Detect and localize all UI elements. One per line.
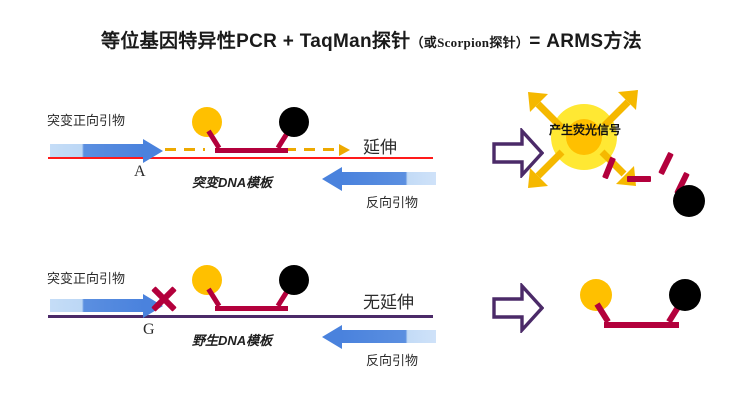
- intact-probe-linker-base: [604, 322, 679, 328]
- wildtype-template-label: 野生DNA模板: [192, 330, 272, 349]
- wildtype-reverse-primer-label: 反向引物: [366, 350, 418, 369]
- primer-tail: [341, 330, 436, 343]
- mutant-probe-linker-base: [215, 148, 288, 153]
- mutant-extension-label: 延伸: [363, 133, 397, 158]
- intact-probe-quencher: [669, 279, 701, 311]
- primer-head: [322, 325, 342, 349]
- extension-blocked-x-icon: [149, 284, 179, 314]
- mutant-forward-primer-label: 突变正向引物: [47, 110, 125, 129]
- mutant-extension-dashes: [165, 148, 205, 151]
- wildtype-forward-primer-label: 突变正向引物: [47, 268, 125, 287]
- wildtype-flow-arrow-icon: [492, 283, 544, 333]
- panel-wildtype: 突变正向引物 G 野生DNA模板 无延伸 反向引物: [0, 158, 743, 406]
- wildtype-extension-label: 无延伸: [363, 288, 414, 313]
- wildtype-forward-primer-arrow: [50, 294, 163, 318]
- mutant-extension-arrowhead: [339, 144, 350, 156]
- wildtype-reverse-primer-arrow: [322, 325, 437, 349]
- primer-tail: [50, 144, 144, 157]
- mutant-extension-dashes-2: [285, 148, 340, 151]
- wildtype-probe-quencher: [279, 265, 309, 295]
- primer-tail: [50, 299, 144, 312]
- wildtype-probe-linker-base: [215, 306, 288, 311]
- fluorescence-signal-label: 产生荧光信号: [549, 121, 621, 138]
- mutant-probe-quencher: [279, 107, 309, 137]
- wildtype-base-letter: G: [143, 321, 155, 339]
- diagram-canvas: 等位基因特异性PCR + TaqMan探针（或Scorpion探针）= ARMS…: [0, 0, 743, 406]
